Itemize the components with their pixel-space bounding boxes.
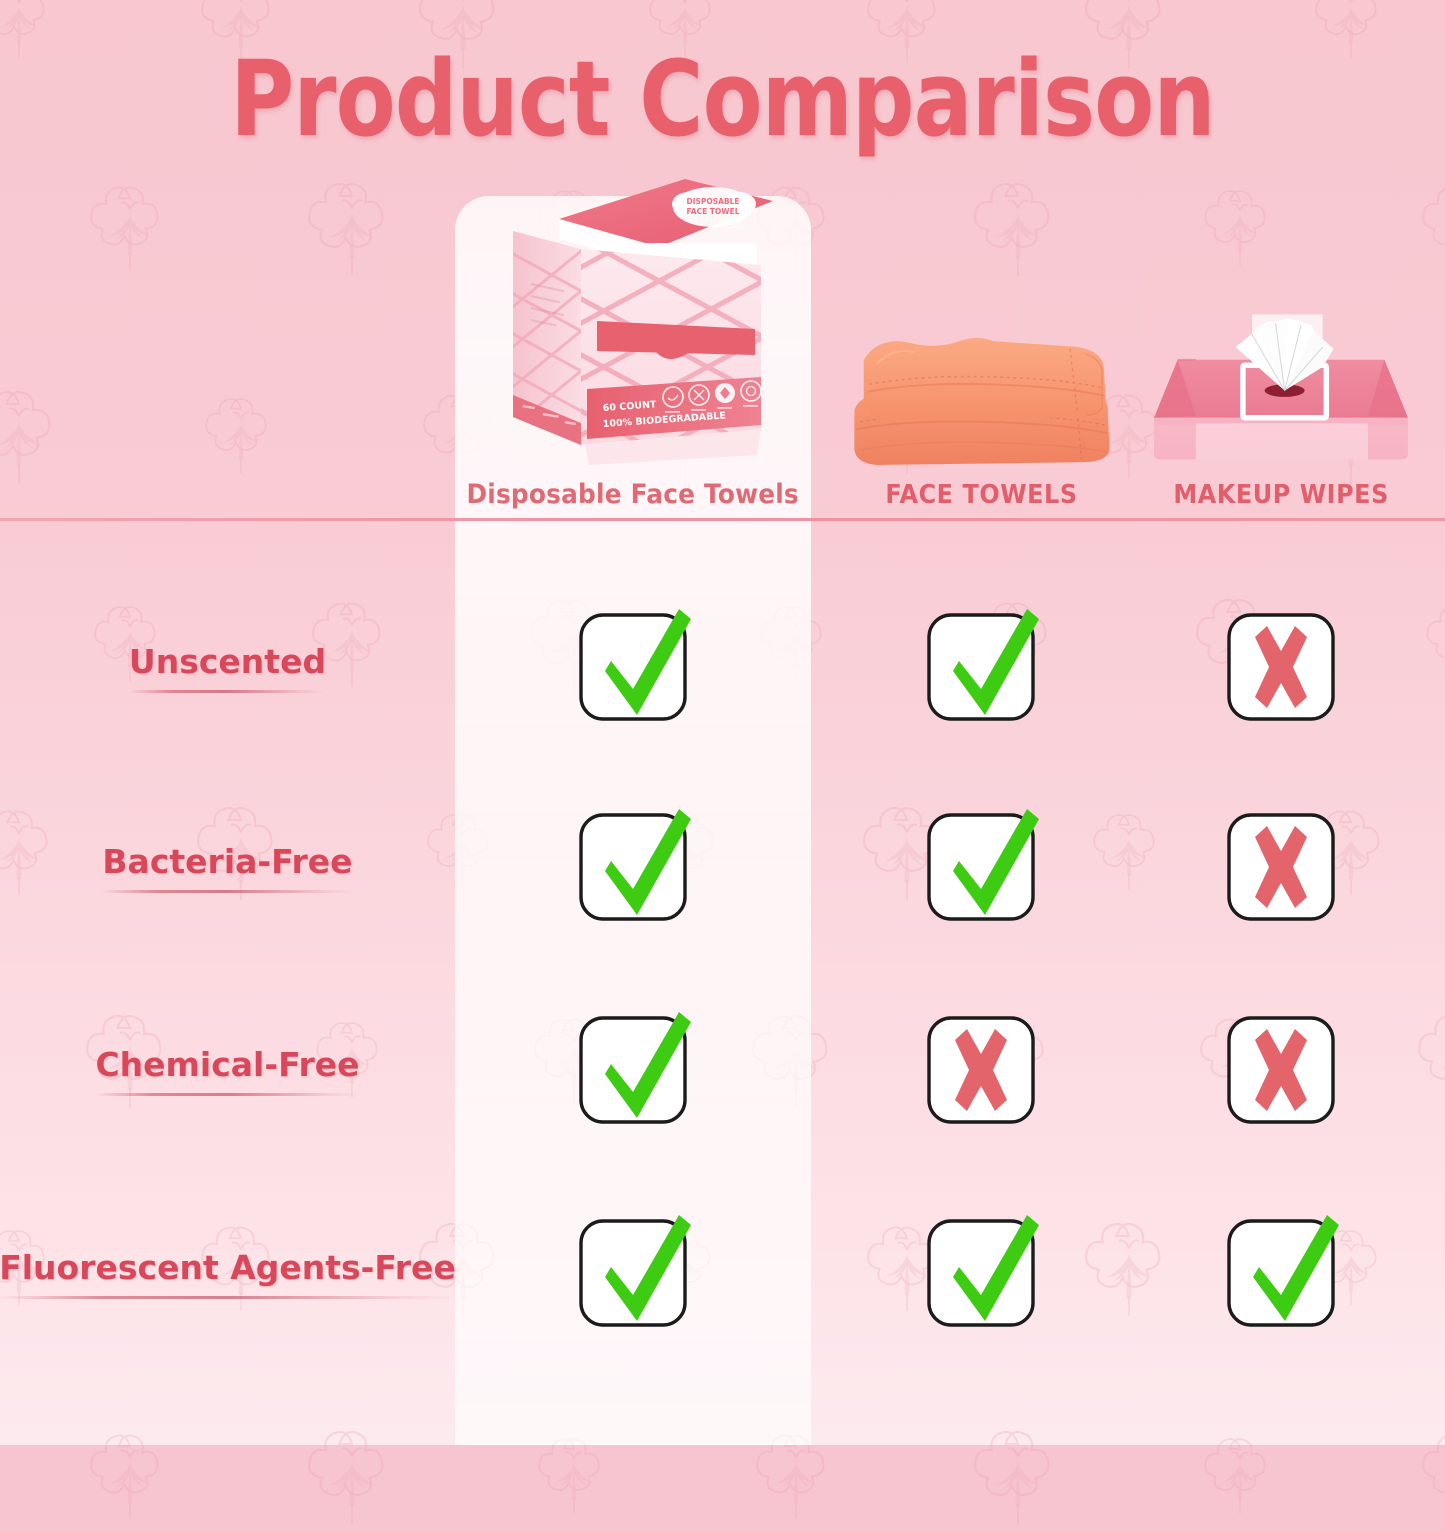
row-underline <box>95 1093 359 1096</box>
row-label-cell: Chemical-Free <box>0 968 455 1172</box>
column-header-disposable-face-towels: DISPOSABLE FACE TOWEL <box>455 185 811 520</box>
row-label-cell: Bacteria-Free <box>0 765 455 969</box>
column-header-makeup-wipes: MAKEUP WIPES <box>1145 185 1417 520</box>
check-mark-icon <box>1229 1221 1333 1325</box>
cell-chemical-free-makeup-wipes <box>1145 968 1417 1172</box>
cell-chemical-free-disposable-face-towels <box>455 968 811 1172</box>
table-row: Bacteria-Free <box>0 765 1445 969</box>
row-label-cell: Unscented <box>0 565 455 769</box>
table-row: Chemical-Free <box>0 968 1445 1172</box>
column-header-label: FACE TOWELS <box>885 480 1077 520</box>
row-underline <box>129 690 326 693</box>
check-mark-icon <box>581 615 685 719</box>
comparison-header-row: DISPOSABLE FACE TOWEL <box>0 185 1445 520</box>
row-label: Fluorescent Agents-Free <box>0 1248 456 1287</box>
cell-bacteria-free-makeup-wipes <box>1145 765 1417 969</box>
check-mark-icon <box>929 615 1033 719</box>
cross-mark-icon <box>1229 815 1333 919</box>
row-underline <box>0 1296 456 1299</box>
cross-mark-icon <box>929 1018 1033 1122</box>
cell-unscented-disposable-face-towels <box>455 565 811 769</box>
product-art-cell: DISPOSABLE FACE TOWEL <box>455 173 811 479</box>
product-art-cell <box>1145 185 1417 480</box>
column-header-label: MAKEUP WIPES <box>1173 480 1388 520</box>
check-mark-icon <box>581 1221 685 1325</box>
check-mark-icon <box>581 815 685 919</box>
check-mark-icon <box>929 815 1033 919</box>
wipes-pack-icon <box>1145 299 1417 474</box>
cell-fluorescent-agents-free-face-towels <box>845 1171 1117 1375</box>
table-row: Fluorescent Agents-Free <box>0 1171 1445 1375</box>
folded-towels-icon <box>845 304 1117 474</box>
row-label: Unscented <box>129 642 326 681</box>
cell-unscented-face-towels <box>845 565 1117 769</box>
cell-bacteria-free-disposable-face-towels <box>455 765 811 969</box>
cross-mark-icon <box>1229 615 1333 719</box>
comparison-table-body: Unscented <box>0 521 1445 1445</box>
row-label: Chemical-Free <box>95 1045 359 1084</box>
column-header-label: Disposable Face Towels <box>467 479 799 520</box>
check-mark-icon <box>929 1221 1033 1325</box>
cross-mark-icon <box>1229 1018 1333 1122</box>
cell-bacteria-free-face-towels <box>845 765 1117 969</box>
cell-fluorescent-agents-free-disposable-face-towels <box>455 1171 811 1375</box>
cell-chemical-free-face-towels <box>845 968 1117 1172</box>
box-badge-line-1: DISPOSABLE <box>686 197 739 206</box>
row-label-cell: Fluorescent Agents-Free <box>0 1171 455 1375</box>
check-mark-icon <box>581 1018 685 1122</box>
header-divider <box>0 518 1445 521</box>
cell-unscented-makeup-wipes <box>1145 565 1417 769</box>
row-label: Bacteria-Free <box>102 842 352 881</box>
row-underline <box>102 890 352 893</box>
product-art-cell <box>845 185 1117 480</box>
page-title: Product Comparison <box>116 38 1330 160</box>
table-row: Unscented <box>0 565 1445 769</box>
column-header-face-towels: FACE TOWELS <box>845 185 1117 520</box>
cell-fluorescent-agents-free-makeup-wipes <box>1145 1171 1417 1375</box>
box-badge-line-2: FACE TOWEL <box>687 207 740 216</box>
box-icon: DISPOSABLE FACE TOWEL <box>473 173 793 473</box>
